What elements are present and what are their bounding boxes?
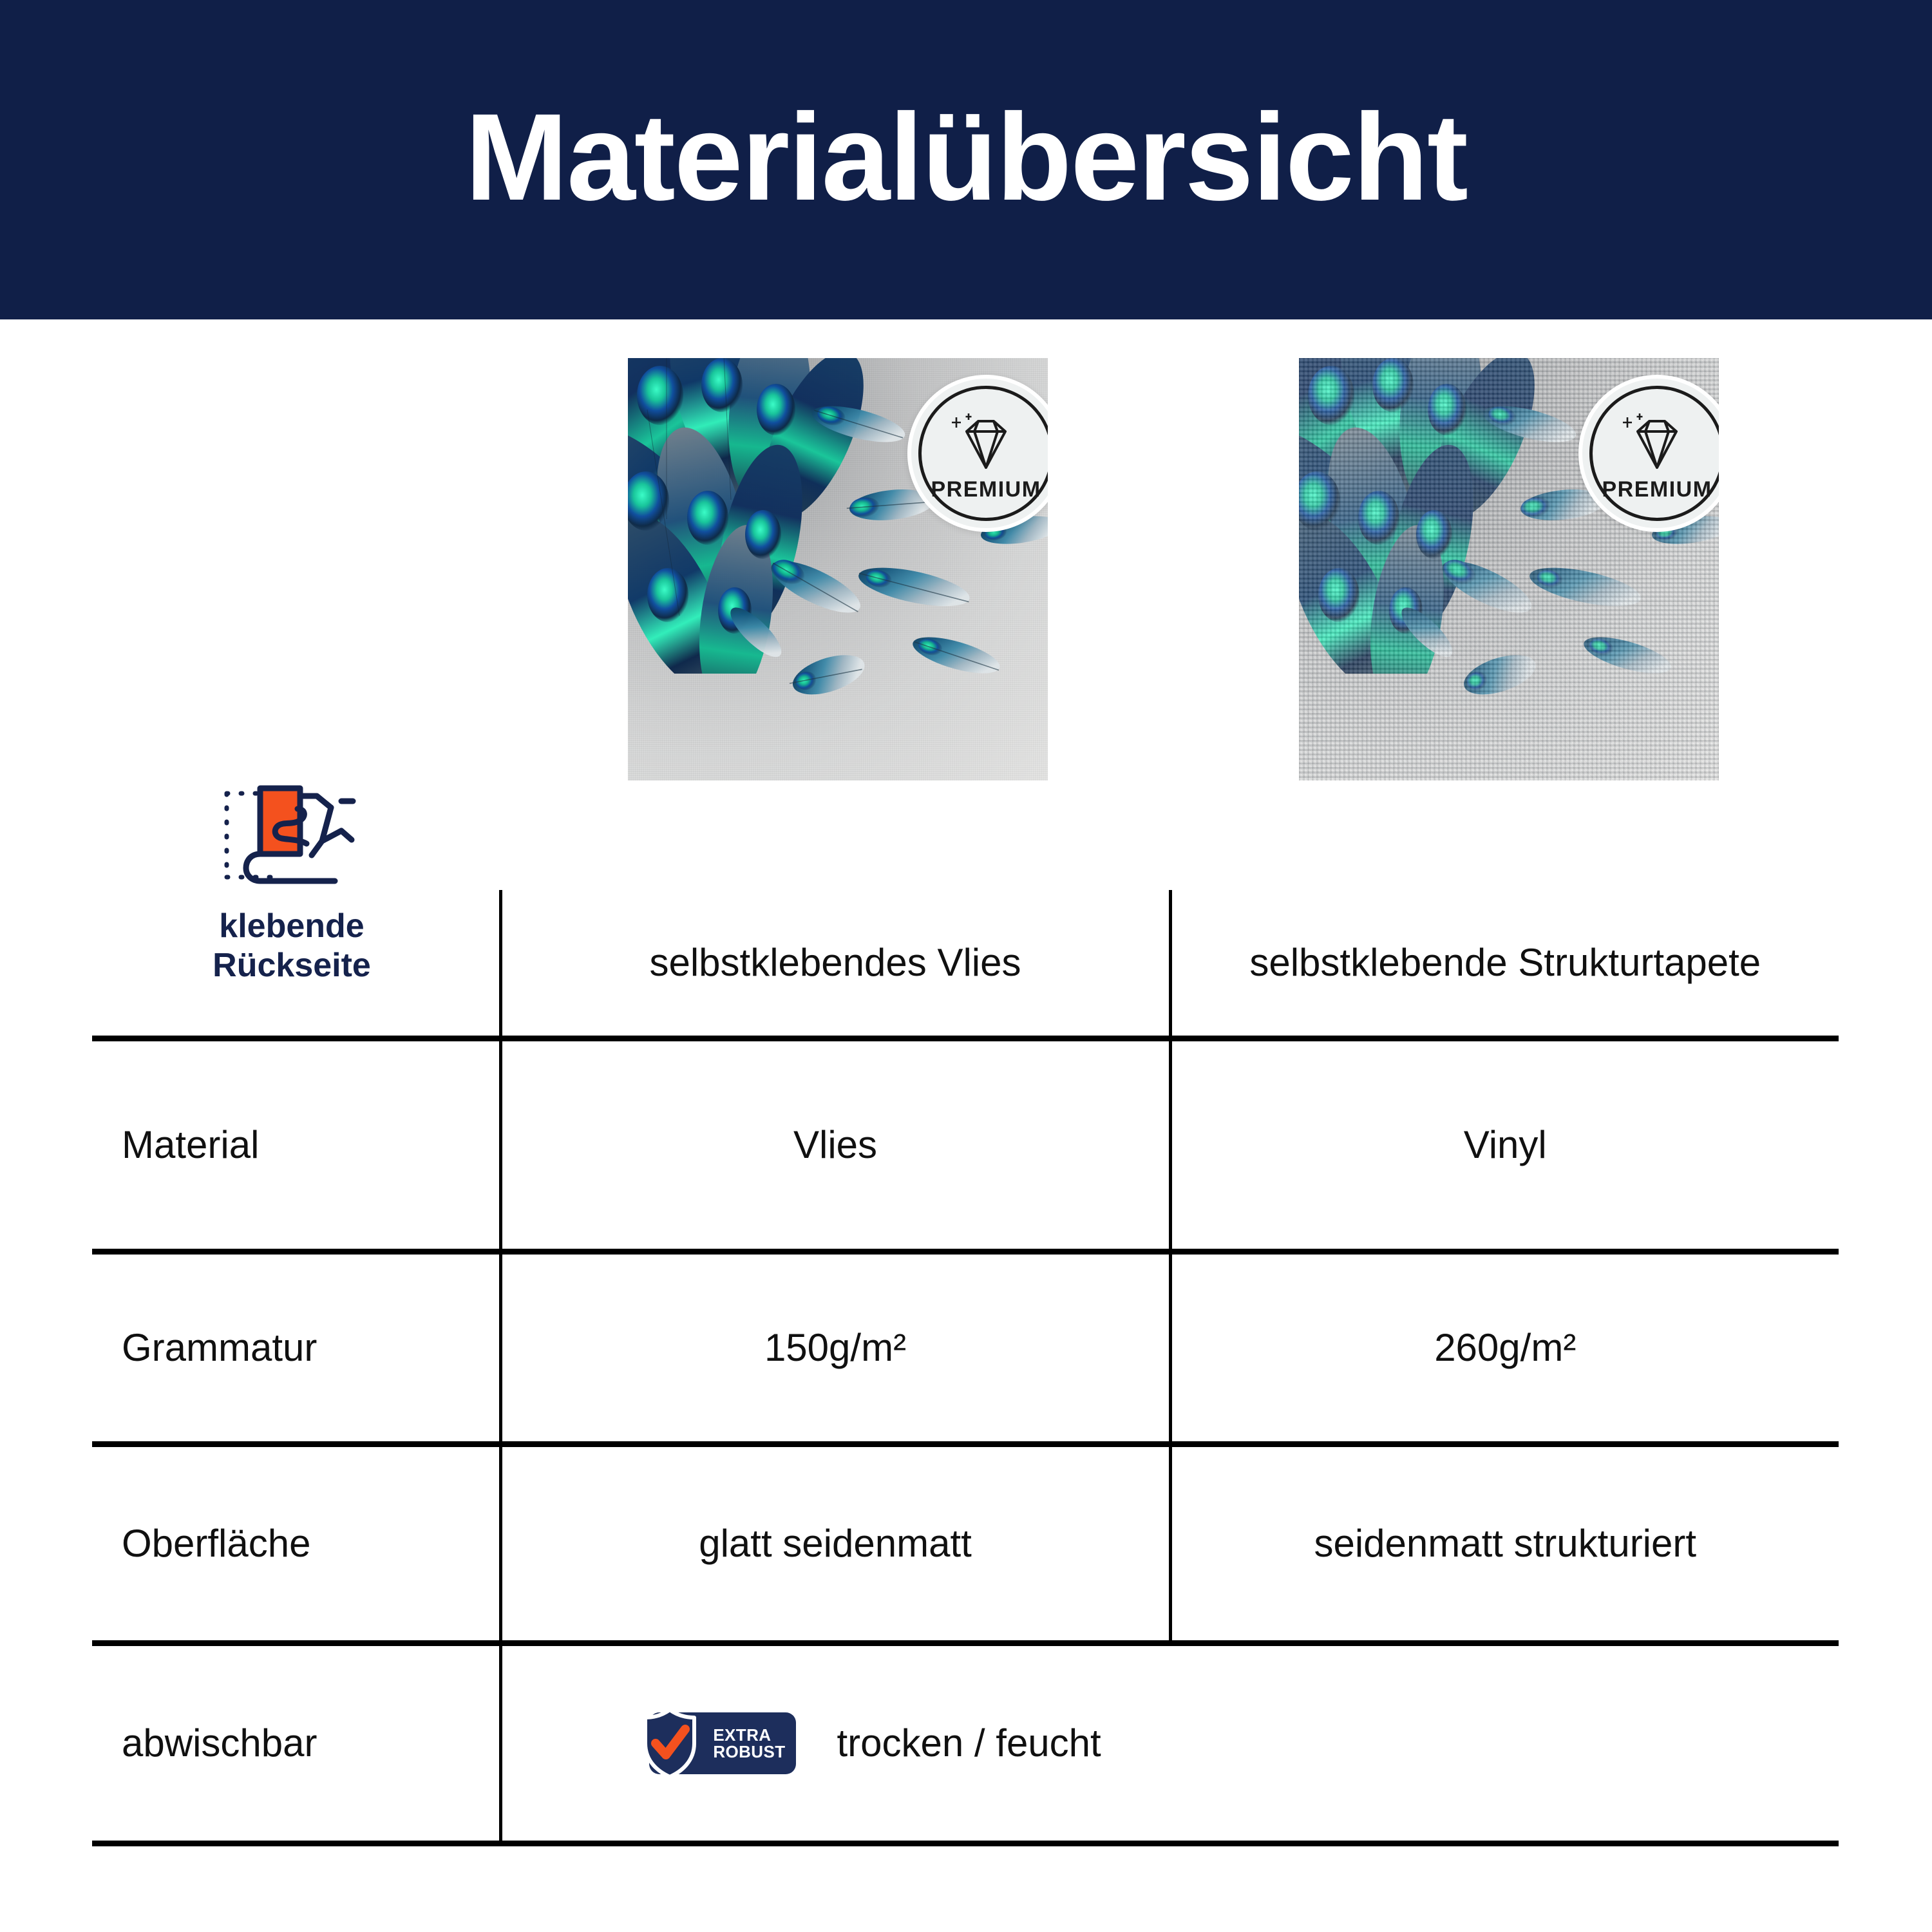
row-value-oberflaeche-col2: seidenmatt strukturiert bbox=[1170, 1444, 1839, 1643]
row-label-grammatur: Grammatur bbox=[92, 1252, 500, 1444]
extra-robust-badge: EXTRA ROBUST bbox=[649, 1712, 796, 1774]
header-col2-value: selbstklebende Strukturtapete bbox=[1170, 890, 1839, 1039]
row-value-abwischbar: EXTRA ROBUST trocken / feucht bbox=[500, 1643, 1839, 1844]
peel-sticker-hand-icon bbox=[215, 779, 368, 894]
page-title: Materialübersicht bbox=[465, 95, 1467, 219]
preview-image-strukturtapete[interactable]: PREMIUM bbox=[1299, 358, 1719, 781]
premium-label: PREMIUM bbox=[931, 477, 1041, 502]
feather-photo-vlies: PREMIUM bbox=[628, 358, 1048, 781]
row-label-oberflaeche: Oberfläche bbox=[92, 1444, 500, 1643]
preview-row: PREMIUM bbox=[0, 358, 1932, 786]
row-value-material-col1: Vlies bbox=[500, 1039, 1170, 1252]
header-label-cell bbox=[92, 890, 500, 1039]
table-row: Grammatur 150g/m² 260g/m² bbox=[92, 1252, 1839, 1444]
extra-robust-text: EXTRA ROBUST bbox=[713, 1727, 785, 1760]
row-value-grammatur-col2: 260g/m² bbox=[1170, 1252, 1839, 1444]
extra-robust-line2: ROBUST bbox=[713, 1743, 785, 1760]
diamond-icon bbox=[950, 413, 1022, 475]
table-row-abwischbar: abwischbar EXTRA R bbox=[92, 1643, 1839, 1844]
row-value-oberflaeche-col1: glatt seidenmatt bbox=[500, 1444, 1170, 1643]
feather-photo-strukturtapete: PREMIUM bbox=[1299, 358, 1719, 781]
material-comparison-table: selbstklebendes Vlies selbstklebende Str… bbox=[92, 890, 1839, 1846]
header-col1-value: selbstklebendes Vlies bbox=[500, 890, 1170, 1039]
row-value-material-col2: Vinyl bbox=[1170, 1039, 1839, 1252]
shield-check-icon bbox=[640, 1707, 699, 1779]
diamond-icon bbox=[1621, 413, 1693, 475]
row-label-abwischbar: abwischbar bbox=[92, 1643, 500, 1844]
premium-label: PREMIUM bbox=[1602, 477, 1712, 502]
table-row: Material Vlies Vinyl bbox=[92, 1039, 1839, 1252]
row-value-grammatur-col1: 150g/m² bbox=[500, 1252, 1170, 1444]
material-overview-page: Materialübersicht bbox=[0, 0, 1932, 1932]
preview-image-vlies[interactable]: PREMIUM bbox=[628, 358, 1048, 781]
table-row: Oberfläche glatt seidenmatt seidenmatt s… bbox=[92, 1444, 1839, 1643]
table-row-header: selbstklebendes Vlies selbstklebende Str… bbox=[92, 890, 1839, 1039]
page-header: Materialübersicht bbox=[0, 0, 1932, 319]
abwischbar-value-text: trocken / feucht bbox=[837, 1719, 1101, 1768]
extra-robust-line1: EXTRA bbox=[713, 1727, 785, 1743]
row-label-material: Material bbox=[92, 1039, 500, 1252]
